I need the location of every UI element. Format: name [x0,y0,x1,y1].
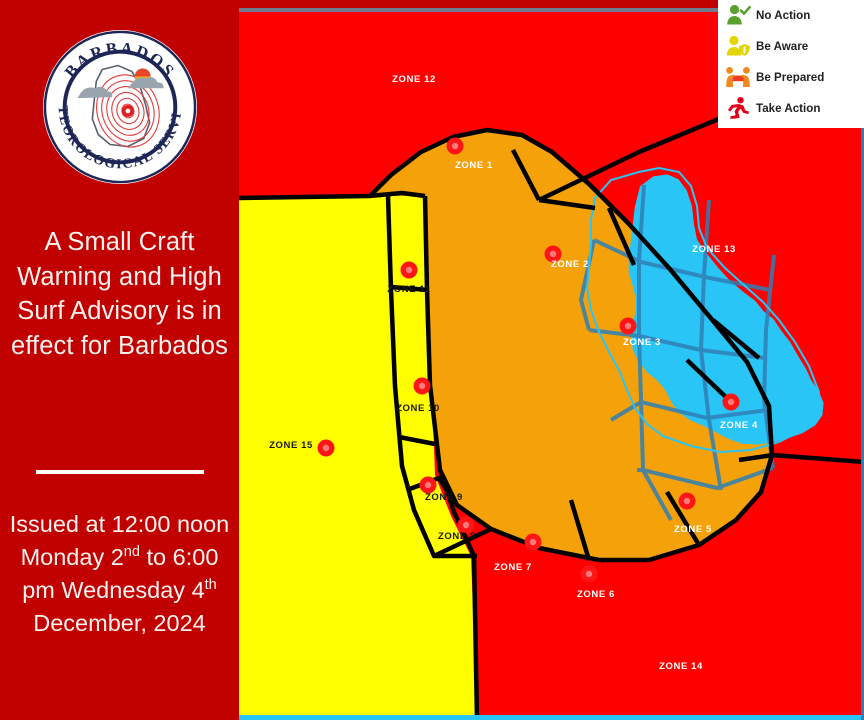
zone-label-zone-7: ZONE 7 [494,562,532,573]
legend-label-no-action: No Action [756,9,810,22]
map-bottom-border [239,715,864,720]
zone-label-zone-14: ZONE 14 [659,661,703,672]
barbados-meteorological-services-logo: BARBADOS METEOROLOGICAL SERVICES [41,28,199,186]
zone-label-zone-11: ZONE 11 [387,284,430,295]
zone-marker-zone-15[interactable] [318,440,335,457]
zone-marker-zone-3[interactable] [620,318,637,335]
zone-label-zone-10: ZONE 10 [396,403,440,414]
issued-timestamp: Issued at 12:00 noon Monday 2nd to 6:00 … [6,508,233,640]
zone-label-zone-6: ZONE 6 [577,589,615,600]
person-check-icon [725,3,751,28]
legend-item-be-aware[interactable]: Be Aware [718,31,864,62]
zone-marker-zone-11[interactable] [401,262,418,279]
zone-marker-zone-1[interactable] [447,138,464,155]
legend-item-be-prepared[interactable]: Be Prepared [718,62,864,93]
zone-label-zone-2: ZONE 2 [551,259,589,270]
zone-label-zone-1: ZONE 1 [455,160,493,171]
legend-label-be-prepared: Be Prepared [756,71,824,84]
zone-marker-zone-4[interactable] [723,394,740,411]
zone-marker-zone-5[interactable] [679,493,696,510]
people-carrying-icon [725,65,751,90]
zone-label-zone-4: ZONE 4 [720,420,758,431]
zone-label-zone-13: ZONE 13 [692,244,736,255]
legend-item-take-action[interactable]: Take Action [718,93,864,124]
zone-marker-zone-9[interactable] [420,477,437,494]
advisory-panel: BARBADOS METEOROLOGICAL SERVICES A Small… [0,0,239,720]
person-running-icon [725,96,751,121]
alert-level-legend[interactable]: No Action Be Aware Be Prepared [718,0,864,128]
panel-divider [36,470,204,474]
zone-label-zone-9: ZONE 9 [425,492,463,503]
warning-graphic: ZONE 1ZONE 2ZONE 3ZONE 4ZONE 5ZONE 6ZONE… [0,0,864,720]
zone-marker-zone-6[interactable] [581,566,598,583]
advisory-message: A Small Craft Warning and High Surf Advi… [8,225,231,363]
issued-ordinal-1: nd [124,544,140,560]
zone-label-zone-8: ZONE 8 [438,531,476,542]
zone-marker-zone-10[interactable] [414,378,431,395]
issued-suffix: December, 2024 [33,610,205,636]
legend-label-take-action: Take Action [756,102,820,115]
legend-label-be-aware: Be Aware [756,40,808,53]
zone-label-zone-5: ZONE 5 [674,524,712,535]
legend-item-no-action[interactable]: No Action [718,0,864,31]
zone-label-zone-12: ZONE 12 [392,74,436,85]
zone-label-zone-3: ZONE 3 [623,337,661,348]
zone-marker-zone-7[interactable] [525,534,542,551]
zone-label-zone-15: ZONE 15 [269,440,313,451]
issued-ordinal-2: th [205,577,217,593]
person-shield-icon [725,34,751,59]
